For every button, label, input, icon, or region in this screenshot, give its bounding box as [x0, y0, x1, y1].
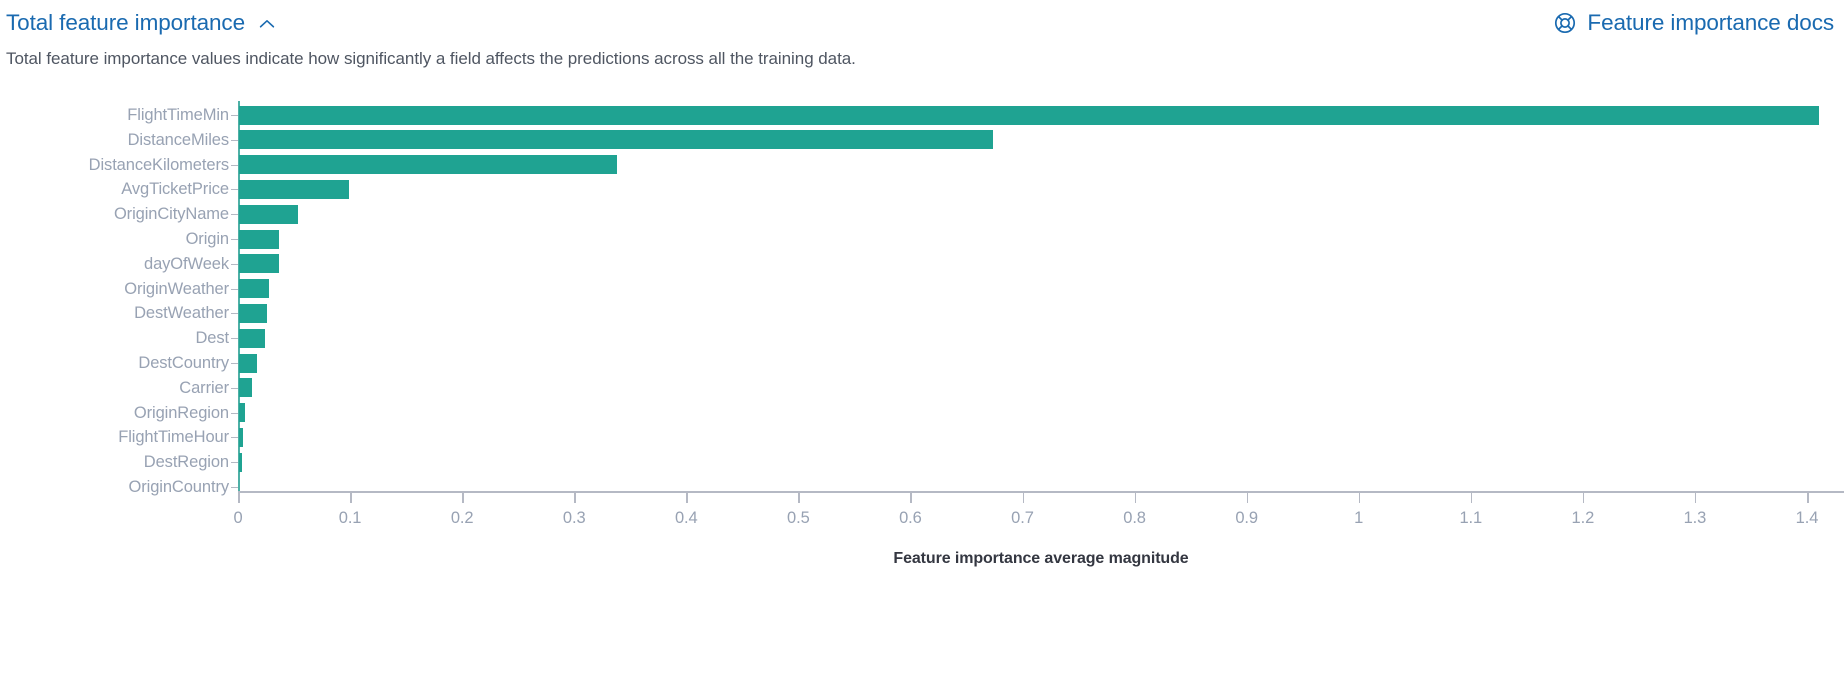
bar[interactable] — [239, 428, 243, 447]
x-axis-tick — [238, 492, 240, 503]
x-axis-tick-label: 0.7 — [1011, 508, 1034, 528]
x-axis-tick-label: 0.6 — [899, 508, 922, 528]
x-axis-tick-label: 0.8 — [1123, 508, 1146, 528]
x-axis-tick-label: 0 — [233, 508, 242, 528]
help-lifebuoy-icon — [1553, 11, 1577, 35]
y-axis-label: DestWeather — [0, 304, 229, 322]
bar[interactable] — [239, 329, 265, 348]
feature-importance-docs-link[interactable]: Feature importance docs — [1553, 10, 1836, 36]
y-axis-label: OriginCountry — [0, 478, 229, 496]
x-axis-tick-label: 0.2 — [451, 508, 474, 528]
chevron-up-icon[interactable] — [256, 13, 278, 35]
x-axis-tick — [1695, 492, 1697, 503]
bar[interactable] — [239, 453, 242, 472]
panel-description: Total feature importance values indicate… — [6, 47, 856, 71]
bar[interactable] — [239, 180, 349, 199]
bar[interactable] — [239, 155, 617, 174]
x-axis-tick-label: 0.1 — [339, 508, 362, 528]
y-axis-label: dayOfWeek — [0, 255, 229, 273]
page-title: Total feature importance — [6, 10, 245, 36]
bar[interactable] — [239, 130, 993, 149]
x-axis-tick — [1247, 492, 1249, 503]
y-axis-label: DestRegion — [0, 453, 229, 471]
panel-title-toggle[interactable]: Total feature importance — [6, 10, 278, 36]
y-axis-label: OriginWeather — [0, 280, 229, 298]
x-axis-tick — [1471, 492, 1473, 503]
y-axis-label: Origin — [0, 230, 229, 248]
y-axis-label: Carrier — [0, 379, 229, 397]
x-axis-tick — [1135, 492, 1137, 503]
bar[interactable] — [239, 254, 279, 273]
x-axis-tick — [1807, 492, 1809, 503]
x-axis-tick — [798, 492, 800, 503]
x-axis-tick-label: 0.9 — [1235, 508, 1258, 528]
bar[interactable] — [239, 403, 245, 422]
x-axis-tick-label: 1 — [1354, 508, 1363, 528]
x-axis-tick — [574, 492, 576, 503]
y-axis-label: DestCountry — [0, 354, 229, 372]
x-axis-tick — [686, 492, 688, 503]
x-axis-tick — [1023, 492, 1025, 503]
y-axis-label: Dest — [0, 329, 229, 347]
y-axis-label: FlightTimeMin — [0, 106, 229, 124]
x-axis-tick-label: 1.1 — [1459, 508, 1482, 528]
y-axis-label: AvgTicketPrice — [0, 180, 229, 198]
panel-header: Total feature importance Feature importa… — [0, 0, 1844, 46]
x-axis-line — [238, 491, 1844, 493]
x-axis-tick — [910, 492, 912, 503]
bar[interactable] — [239, 304, 267, 323]
y-axis-label: DistanceMiles — [0, 131, 229, 149]
x-axis-tick-label: 1.2 — [1572, 508, 1595, 528]
bar[interactable] — [239, 378, 252, 397]
y-axis-label: FlightTimeHour — [0, 428, 229, 446]
x-axis-tick-label: 0.5 — [787, 508, 810, 528]
y-axis-label: DistanceKilometers — [0, 156, 229, 174]
x-axis-title: Feature importance average magnitude — [238, 550, 1844, 568]
docs-link-label: Feature importance docs — [1587, 10, 1834, 36]
x-axis-tick — [1583, 492, 1585, 503]
y-axis-label: OriginRegion — [0, 404, 229, 422]
bar[interactable] — [239, 354, 257, 373]
x-axis-tick-label: 0.4 — [675, 508, 698, 528]
x-axis-tick-label: 1.4 — [1796, 508, 1819, 528]
bar[interactable] — [239, 230, 279, 249]
bar[interactable] — [239, 205, 298, 224]
x-axis-tick — [350, 492, 352, 503]
x-axis-tick — [462, 492, 464, 503]
bar[interactable] — [239, 106, 1819, 125]
y-axis-label: OriginCityName — [0, 205, 229, 223]
feature-importance-bar-chart: FlightTimeMinDistanceMilesDistanceKilome… — [0, 95, 1844, 680]
x-axis-tick — [1359, 492, 1361, 503]
x-axis-tick-label: 1.3 — [1684, 508, 1707, 528]
x-axis-tick-label: 0.3 — [563, 508, 586, 528]
bar[interactable] — [239, 279, 269, 298]
